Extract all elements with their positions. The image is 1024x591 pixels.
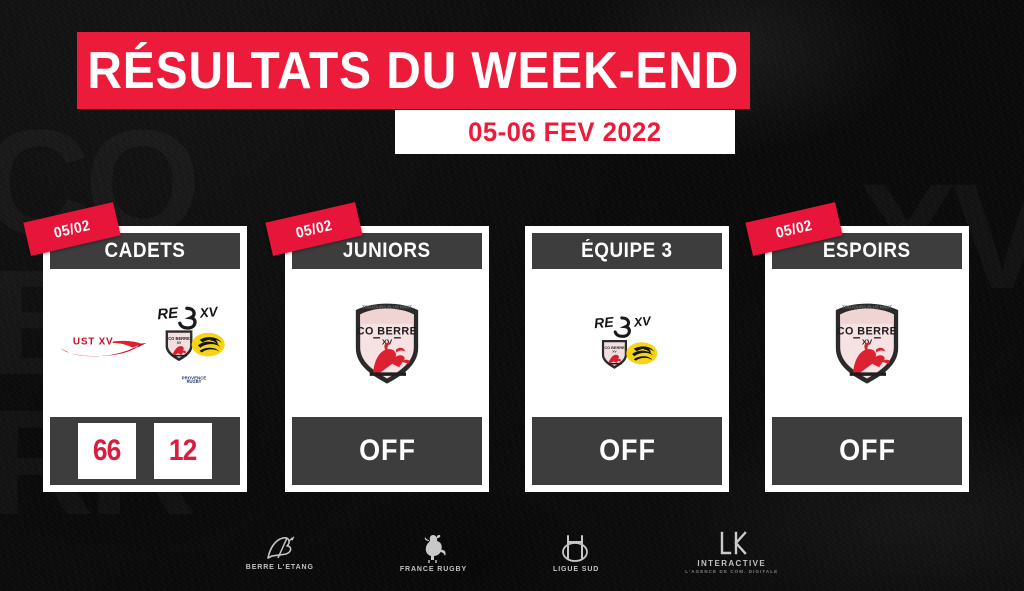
ligue-sud-logo <box>555 532 597 564</box>
card-category-label: ÉQUIPE 3 <box>581 239 673 263</box>
results-card-row: 05/02 CADETS UST XV RE XV <box>0 226 1024 496</box>
svg-text:CO BERRE: CO BERRE <box>357 325 417 337</box>
re3-xv-provence-rugby-logo: RE XV CO BERRE XV <box>154 302 234 384</box>
sponsor-lk-interactive: INTERACTIVE L'AGENCE DE COM. DIGITALE <box>685 531 778 574</box>
date-banner: 05-06 FEV 2022 <box>395 110 735 154</box>
svg-text:RE: RE <box>157 304 180 323</box>
sponsor-name: BERRE L'ETANG <box>246 564 314 571</box>
score-home: 66 <box>93 434 121 468</box>
card-score-bar: 66 12 <box>50 417 240 485</box>
co-berre-xv-logo: TOUJOURS PLUS HAUT CO BERRE XV <box>827 298 907 388</box>
status-label: OFF <box>839 434 896 468</box>
title-banner: RÉSULTATS DU WEEK-END <box>77 32 750 109</box>
lk-interactive-logo <box>714 531 750 557</box>
card-logo-area: UST XV RE XV CO BERRE XV <box>50 269 240 417</box>
svg-text:RUGBY: RUGBY <box>187 379 202 384</box>
sponsor-bar: BERRE L'ETANG FRANCE RUGBY LIGUE SUD INT… <box>0 521 1024 583</box>
sponsor-ligue-sud: LIGUE SUD <box>553 532 599 573</box>
sponsor-berre-letang: BERRE L'ETANG <box>246 534 314 571</box>
co-berre-xv-logo: TOUJOURS PLUS HAUT CO BERRE XV <box>347 298 427 388</box>
svg-text:TOUJOURS PLUS HAUT: TOUJOURS PLUS HAUT <box>362 304 412 309</box>
card-header: ÉQUIPE 3 <box>532 233 722 269</box>
status-label: OFF <box>599 434 656 468</box>
card-status-bar: OFF <box>532 417 722 485</box>
svg-text:RE: RE <box>593 314 614 332</box>
berre-letang-logo <box>256 534 304 562</box>
svg-text:TOUJOURS PLUS HAUT: TOUJOURS PLUS HAUT <box>842 304 892 309</box>
card-status-bar: OFF <box>772 417 962 485</box>
france-rugby-rooster-logo <box>416 532 450 564</box>
card-category-label: JUNIORS <box>343 239 431 263</box>
result-card-espoirs[interactable]: 05/02 ESPOIRS TOUJOURS PLUS HAUT CO BERR… <box>765 226 969 492</box>
card-logo-area: RE XV CO BERRE XV <box>532 269 722 417</box>
card-category-label: CADETS <box>105 239 186 263</box>
date-ribbon-label: 05/02 <box>774 217 814 242</box>
result-card-equipe-3[interactable]: ÉQUIPE 3 RE XV CO BERRE XV <box>525 226 729 492</box>
card-category-label: ESPOIRS <box>823 239 911 263</box>
result-card-juniors[interactable]: 05/02 JUNIORS TOUJOURS PLUS HAUT CO BERR… <box>285 226 489 492</box>
date-ribbon-label: 05/02 <box>294 217 334 242</box>
status-label: OFF <box>359 434 416 468</box>
score-away: 12 <box>169 434 197 468</box>
date-range-label: 05-06 FEV 2022 <box>468 117 661 148</box>
svg-text:XV: XV <box>632 314 653 330</box>
ust-xv-logo: UST XV <box>56 322 148 364</box>
sponsor-tagline: L'AGENCE DE COM. DIGITALE <box>685 569 778 574</box>
card-logo-area: TOUJOURS PLUS HAUT CO BERRE XV <box>292 269 482 417</box>
re3-xv-logo: RE XV CO BERRE XV <box>590 312 664 374</box>
svg-text:CO BERRE: CO BERRE <box>837 325 897 337</box>
sponsor-name: INTERACTIVE <box>697 559 766 568</box>
sponsor-france-rugby: FRANCE RUGBY <box>400 532 467 573</box>
sponsor-name: FRANCE RUGBY <box>400 566 467 573</box>
svg-text:UST XV: UST XV <box>73 337 114 348</box>
card-status-bar: OFF <box>292 417 482 485</box>
date-ribbon-label: 05/02 <box>52 217 92 242</box>
svg-text:XV: XV <box>198 304 219 321</box>
result-card-cadets[interactable]: 05/02 CADETS UST XV RE XV <box>43 226 247 492</box>
page-title: RÉSULTATS DU WEEK-END <box>88 41 740 101</box>
card-logo-area: TOUJOURS PLUS HAUT CO BERRE XV <box>772 269 962 417</box>
score-box-away: 12 <box>154 423 212 479</box>
score-box-home: 66 <box>78 423 136 479</box>
sponsor-name: LIGUE SUD <box>553 566 599 573</box>
